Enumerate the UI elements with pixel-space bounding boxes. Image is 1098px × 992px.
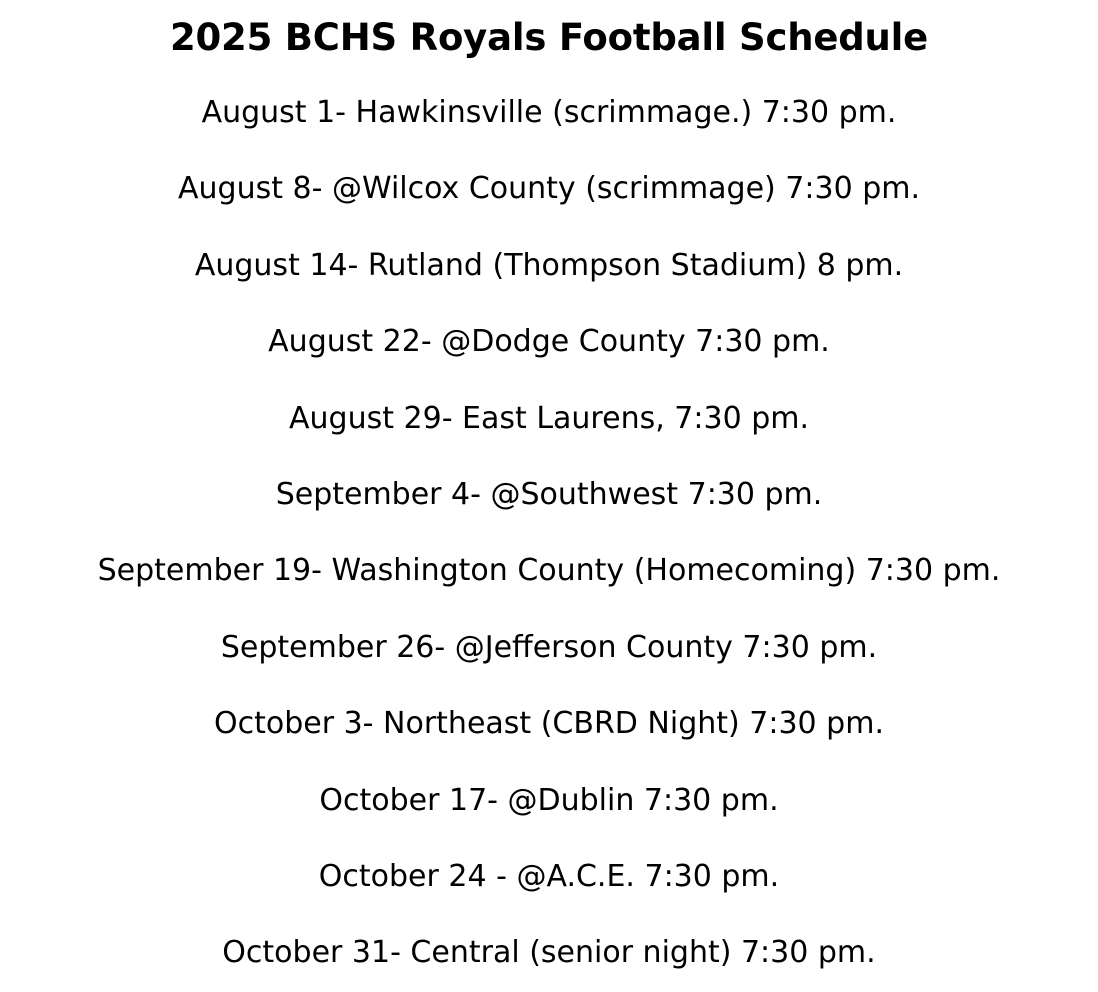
schedule-row: August 8- @Wilcox County (scrimmage) 7:3… — [0, 151, 1098, 227]
schedule-row: September 4- @Southwest 7:30 pm. — [0, 457, 1098, 533]
schedule-row: September 19- Washington County (Homecom… — [0, 533, 1098, 609]
schedule-row: August 29- East Laurens, 7:30 pm. — [0, 381, 1098, 457]
schedule-row: September 26- @Jefferson County 7:30 pm. — [0, 610, 1098, 686]
schedule-list: August 1- Hawkinsville (scrimmage.) 7:30… — [0, 60, 1098, 992]
schedule-page: 2025 BCHS Royals Football Schedule Augus… — [0, 0, 1098, 992]
schedule-row: October 3- Northeast (CBRD Night) 7:30 p… — [0, 686, 1098, 762]
schedule-row: October 17- @Dublin 7:30 pm. — [0, 763, 1098, 839]
schedule-row: August 22- @Dodge County 7:30 pm. — [0, 304, 1098, 380]
page-title: 2025 BCHS Royals Football Schedule — [0, 0, 1098, 60]
schedule-row: October 31- Central (senior night) 7:30 … — [0, 915, 1098, 991]
schedule-row: August 1- Hawkinsville (scrimmage.) 7:30… — [0, 60, 1098, 151]
schedule-row: October 24 - @A.C.E. 7:30 pm. — [0, 839, 1098, 915]
schedule-row: August 14- Rutland (Thompson Stadium) 8 … — [0, 228, 1098, 304]
